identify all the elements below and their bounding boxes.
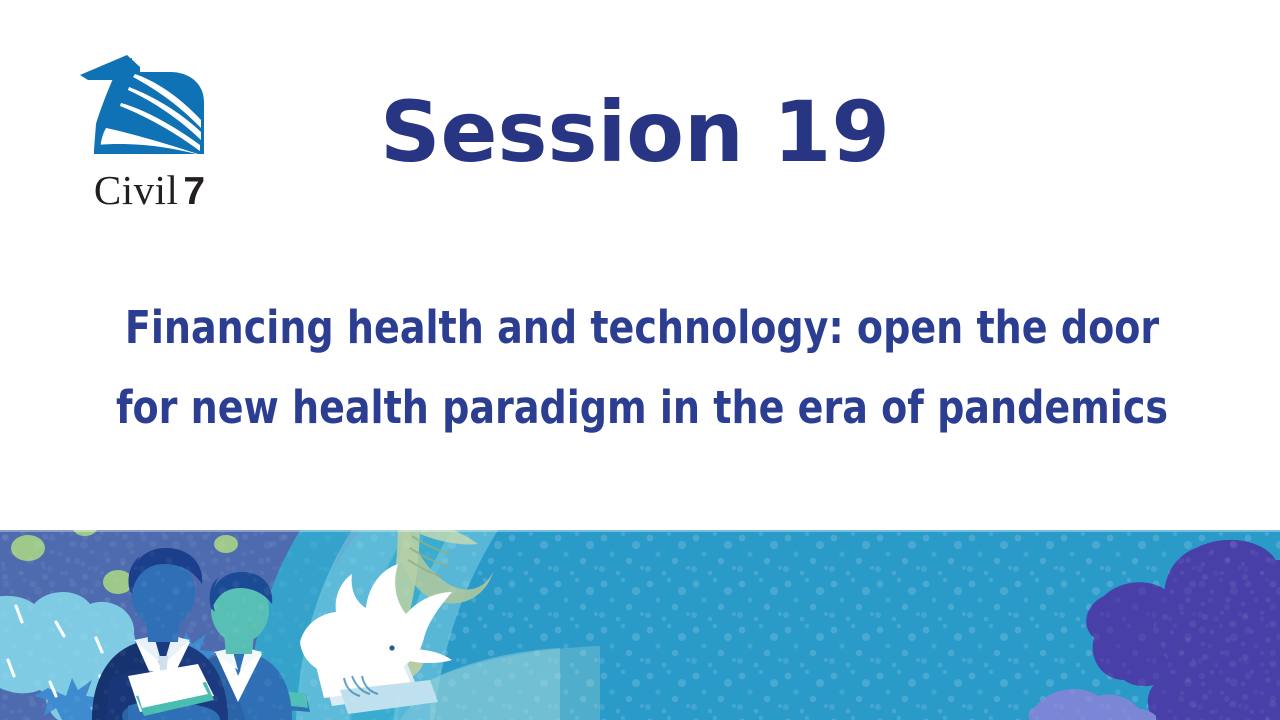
logo-wordmark-civil: Civil <box>94 167 179 213</box>
logo-wordmark-number: 7 <box>183 170 205 213</box>
subtitle-line-1: Financing health and technology: open th… <box>72 288 1211 368</box>
conference-illustration-band <box>0 530 1280 720</box>
civil-7-wordmark: Civil7 <box>62 170 237 211</box>
subtitle-line-2: for new health paradigm in the era of pa… <box>72 368 1211 448</box>
dove-bird-logo-icon <box>70 50 220 162</box>
session-subtitle: Financing health and technology: open th… <box>72 288 1211 448</box>
civil-7-logo: Civil7 <box>62 50 252 225</box>
session-title: Session 19 <box>380 88 890 176</box>
slide-canvas: Civil7 Session 19 Financing health and t… <box>0 0 1280 720</box>
